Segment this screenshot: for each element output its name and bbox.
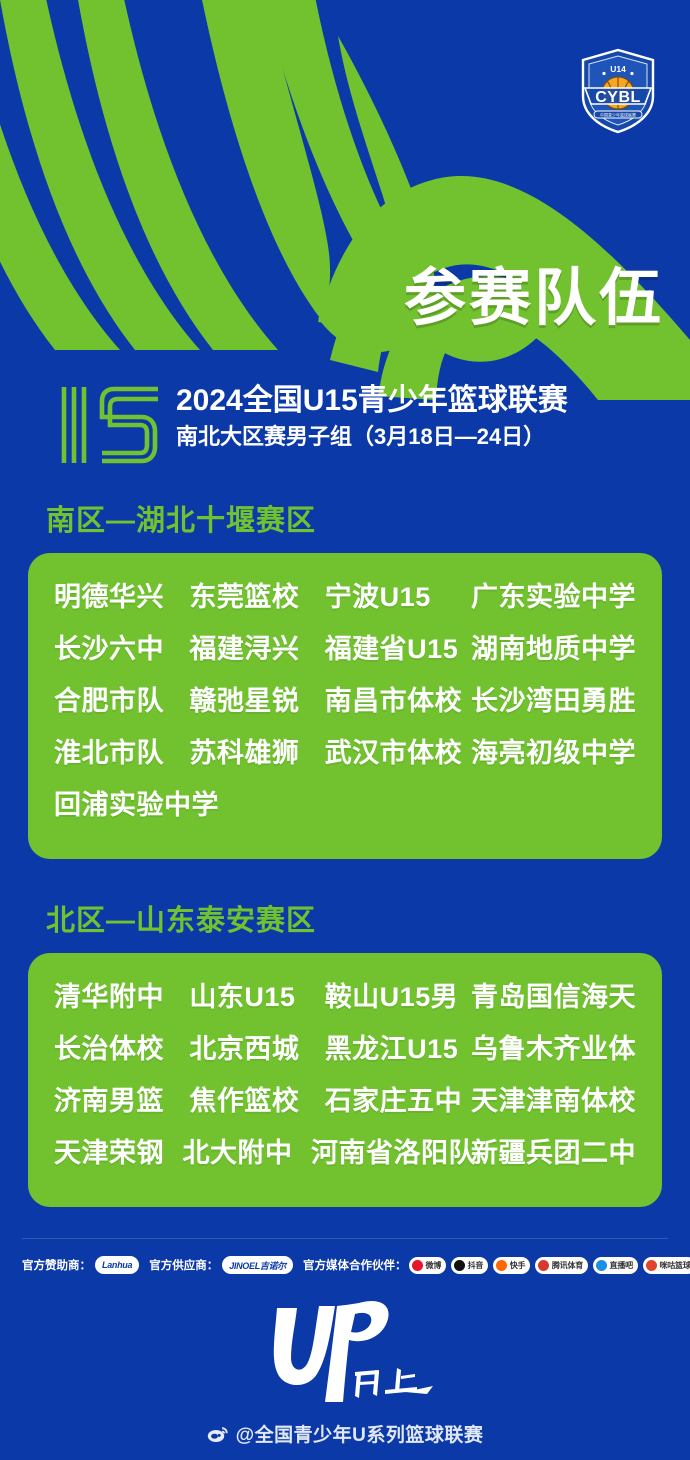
media-partner-douyin: 抖音 (451, 1257, 488, 1274)
weibo-icon (207, 1425, 229, 1443)
media-partner-label-text: 微博 (426, 1260, 442, 1271)
team-name: 福建省U15 (325, 627, 471, 666)
table-row: 明德华兴 东莞篮校 宁波U15 广东实验中学 (54, 575, 636, 627)
cybl-badge: U14 CYBL 中国青少年篮球联赛 (579, 48, 657, 134)
svg-text:U14: U14 (610, 64, 626, 74)
table-row: 清华附中 山东U15 鞍山U15男 青岛国信海天 (54, 975, 636, 1027)
team-grid-north: 清华附中 山东U15 鞍山U15男 青岛国信海天 长治体校 北京西城 黑龙江U1… (54, 975, 636, 1183)
team-name: 河南省洛阳队 (311, 1131, 471, 1170)
table-row: 长沙六中 福建浔兴 福建省U15 湖南地质中学 (54, 627, 636, 679)
media-partner-label-text: 腾讯体育 (552, 1260, 583, 1271)
table-row: 天津荣钢 北大附中 河南省洛阳队 新疆兵团二中 (54, 1131, 636, 1183)
official-supplier-label: 官方供应商： (149, 1257, 218, 1273)
team-grid-south: 明德华兴 东莞篮校 宁波U15 广东实验中学 长沙六中 福建浔兴 福建省U15 … (54, 575, 636, 835)
team-name: 天津津南体校 (471, 1079, 636, 1118)
weibo-icon (412, 1260, 423, 1271)
douyin-icon (454, 1260, 465, 1271)
table-row: 长治体校 北京西城 黑龙江U15 乌鲁木齐业体 (54, 1027, 636, 1079)
media-partner-zhibo8: 直播吧 (593, 1257, 638, 1274)
table-row: 淮北市队 苏科雄狮 武汉市体校 海亮初级中学 (54, 731, 636, 783)
team-name: 石家庄五中 (325, 1079, 471, 1118)
team-name: 长沙六中 (54, 627, 189, 666)
sponsor-divider (22, 1238, 668, 1239)
team-name: 回浦实验中学 (54, 783, 202, 822)
team-name: 苏科雄狮 (189, 731, 324, 770)
zhibo8-icon (596, 1260, 607, 1271)
sponsor-logo-jinoel: JINOEL吉诺尔 (222, 1256, 293, 1274)
table-row: 回浦实验中学 (54, 783, 636, 835)
team-name: 黑龙江U15 (325, 1027, 471, 1066)
media-partner-kuaishou: 快手 (493, 1257, 530, 1274)
team-name: 合肥市队 (54, 679, 189, 718)
team-name: 赣弛星锐 (189, 679, 324, 718)
page-title: 参赛队伍 (404, 268, 664, 330)
media-partner-label-text: 抖音 (468, 1260, 484, 1271)
team-name: 北大附中 (183, 1131, 312, 1170)
team-name: 广东实验中学 (471, 575, 636, 614)
kuaishou-icon (496, 1260, 507, 1271)
migu-icon (646, 1260, 657, 1271)
team-name: 淮北市队 (54, 731, 189, 770)
team-name: 长沙湾田勇胜 (471, 679, 636, 718)
media-partner-label-text: 快手 (510, 1260, 526, 1271)
poster-root: U14 CYBL 中国青少年篮球联赛 参赛队伍 (0, 0, 690, 1460)
sponsor-logo-label: Lanhua (102, 1260, 132, 1270)
sponsor-logo-label: JINOEL吉诺尔 (229, 1259, 286, 1272)
team-name: 明德华兴 (54, 575, 189, 614)
region-title-south: 南区—湖北十堰赛区 (46, 497, 316, 539)
team-name: 东莞篮校 (189, 575, 324, 614)
team-name: 湖南地质中学 (471, 627, 636, 666)
media-partner-migu: 咪咕篮球 (643, 1257, 690, 1274)
team-name: 北京西城 (189, 1027, 324, 1066)
logo-15-mark (58, 383, 166, 467)
team-name: 长治体校 (54, 1027, 189, 1066)
media-partner-label-text: 直播吧 (610, 1260, 633, 1271)
team-name: 宁波U15 (325, 575, 471, 614)
svg-text:CYBL: CYBL (595, 89, 641, 106)
team-name: 福建浔兴 (189, 627, 324, 666)
media-partner-label-text: 咪咕篮球 (659, 1260, 690, 1271)
weibo-footer: @全国青少年U系列篮球联赛 (0, 1420, 690, 1447)
team-card-north: 清华附中 山东U15 鞍山U15男 青岛国信海天 长治体校 北京西城 黑龙江U1… (28, 953, 662, 1207)
weibo-handle: @全国青少年U系列篮球联赛 (236, 1420, 484, 1447)
up-slogan-logo (255, 1300, 445, 1408)
team-name: 武汉市体校 (325, 731, 471, 770)
team-name: 鞍山U15男 (325, 975, 471, 1014)
media-partner-tencent-sports: 腾讯体育 (535, 1257, 588, 1274)
media-partner-label: 官方媒体合作伙伴： (303, 1257, 407, 1273)
svg-text:中国青少年篮球联赛: 中国青少年篮球联赛 (600, 112, 636, 118)
table-row: 济南男篮 焦作篮校 石家庄五中 天津津南体校 (54, 1079, 636, 1131)
tencent-sports-icon (538, 1260, 549, 1271)
team-name: 新疆兵团二中 (471, 1131, 636, 1170)
team-name: 海亮初级中学 (471, 731, 636, 770)
sponsor-logo-lanhua: Lanhua (95, 1256, 139, 1274)
media-partner-weibo: 微博 (409, 1257, 446, 1274)
subtitle-block: 2024全国U15青少年篮球联赛 南北大区赛男子组（3月18日—24日） (58, 383, 568, 467)
team-name: 山东U15 (189, 975, 324, 1014)
team-name: 青岛国信海天 (471, 975, 636, 1014)
table-row: 合肥市队 赣弛星锐 南昌市体校 长沙湾田勇胜 (54, 679, 636, 731)
team-name: 焦作篮校 (189, 1079, 324, 1118)
team-card-south: 明德华兴 东莞篮校 宁波U15 广东实验中学 长沙六中 福建浔兴 福建省U15 … (28, 553, 662, 859)
sponsor-bar: 官方赞助商： Lanhua 官方供应商： JINOEL吉诺尔 官方媒体合作伙伴：… (22, 1252, 672, 1278)
subtitle-primary: 2024全国U15青少年篮球联赛 (176, 384, 568, 418)
team-name: 济南男篮 (54, 1079, 189, 1118)
subtitle-secondary: 南北大区赛男子组（3月18日—24日） (176, 423, 568, 451)
official-sponsor-label: 官方赞助商： (22, 1257, 91, 1273)
team-name: 天津荣钢 (54, 1131, 183, 1170)
team-name: 南昌市体校 (325, 679, 471, 718)
team-name: 清华附中 (54, 975, 189, 1014)
region-title-north: 北区—山东泰安赛区 (46, 897, 316, 939)
team-name: 乌鲁木齐业体 (471, 1027, 636, 1066)
